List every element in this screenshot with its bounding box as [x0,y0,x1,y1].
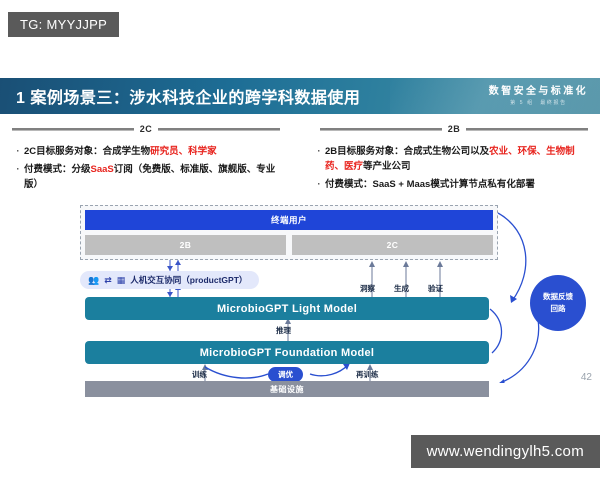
infrastructure-bar: 基础设施 [85,381,489,397]
list-item: · 2C目标服务对象：合成学生物研究员、科学家 [12,144,287,159]
rule-right [320,128,442,131]
bullet-marker: · [12,144,24,159]
bullet-seg: 付费模式：分级 [24,164,91,175]
end-user-bar: 终端用户 [85,210,493,230]
users-icon: 👥 [88,275,99,286]
brand-logo-subtitle: 第 5 组 最终报告 [489,99,588,106]
feedback-loop-line2: 回路 [551,303,566,315]
interaction-pill-label: 人机交互协同（productGPT） [130,274,247,286]
segment-label-2b: 2B [448,124,461,134]
flow-label-insight: 洞察 [360,283,375,294]
page-title: 1 案例场景三：涉水科技企业的跨学科数据使用 [0,84,360,108]
slide-container: 1 案例场景三：涉水科技企业的跨学科数据使用 数智安全与标准化 第 5 组 最终… [0,78,600,403]
bullet-text: 2B目标服务对象：合成式生物公司以及农业、环保、生物制药、医疗等产业公司 [325,144,588,174]
channel-2c: 2C [292,235,493,255]
feedback-loop-circle: 数据反馈 回路 [530,275,586,331]
bullet-marker: · [313,144,325,174]
feedback-loop-line1: 数据反馈 [543,291,573,303]
bullet-text: 2C目标服务对象：合成学生物研究员、科学家 [24,144,287,159]
column-2b: · 2B目标服务对象：合成式生物公司以及农业、环保、生物制药、医疗等产业公司 ·… [299,144,588,195]
bullet-text: 付费模式：分级SaaS订阅（免费版、标准版、旗舰版、专业版） [24,162,287,192]
end-user-group: 终端用户 2B 2C [80,205,498,260]
slide-number: 42 [581,372,592,383]
brand-logo: 数智安全与标准化 第 5 组 最终报告 [489,82,588,106]
watermark-top: TG: MYYJJPP [8,12,119,37]
list-item: · 付费模式：分级SaaS订阅（免费版、标准版、旗舰版、专业版） [12,162,287,192]
segment-divider-2b: 2B [302,124,588,134]
bullet-text: 付费模式：SaaS + Maas模式计算节点私有化部署 [325,177,588,192]
bullet-seg-highlight: 研究员、科学家 [150,146,217,157]
watermark-bottom: www.wendingylh5.com [411,435,600,468]
list-item: · 2B目标服务对象：合成式生物公司以及农业、环保、生物制药、医疗等产业公司 [313,144,588,174]
segment-label-2c: 2C [140,124,153,134]
flow-label-retrain: 再训练 [356,369,379,380]
foundation-model-bar: MicrobioGPT Foundation Model [85,341,489,364]
channel-row: 2B 2C [85,235,493,255]
bullet-seg: 2C目标服务对象：合成学生物 [24,146,150,157]
interaction-pill: 👥 ⇄ ▦ 人机交互协同（productGPT） [80,271,259,289]
bullet-seg: 2B目标服务对象：合成式生物公司以及 [325,146,489,157]
segment-divider-2c: 2C [12,124,302,134]
bullet-seg: 等产业公司 [363,161,411,172]
rule-left [12,128,134,131]
architecture-diagram: 终端用户 2B 2C 👥 ⇄ ▦ 人机交互协同（productGPT） 洞察 生… [0,201,600,383]
flow-label-train: 训练 [192,369,207,380]
slide-header: 1 案例场景三：涉水科技企业的跨学科数据使用 数智安全与标准化 第 5 组 最终… [0,78,600,114]
bullet-marker: · [313,177,325,192]
grid-icon: ▦ [117,275,126,286]
bullet-marker: · [12,162,24,192]
column-2c: · 2C目标服务对象：合成学生物研究员、科学家 · 付费模式：分级SaaS订阅（… [12,144,299,195]
rule-left-2 [158,128,280,131]
channel-2b: 2B [85,235,286,255]
bullet-seg-highlight: SaaS [91,164,114,175]
flow-label-inference: 推理 [276,325,291,336]
exchange-icon: ⇄ [104,275,112,286]
segment-divider-row: 2C 2B [0,118,600,140]
rule-right-2 [466,128,588,131]
bullet-columns: · 2C目标服务对象：合成学生物研究员、科学家 · 付费模式：分级SaaS订阅（… [0,140,600,195]
flow-label-generate: 生成 [394,283,409,294]
list-item: · 付费模式：SaaS + Maas模式计算节点私有化部署 [313,177,588,192]
light-model-bar: MicrobioGPT Light Model [85,297,489,320]
flow-pill-finetune: 调优 [268,367,303,382]
brand-logo-title: 数智安全与标准化 [489,82,588,97]
flow-label-validate: 验证 [428,283,443,294]
